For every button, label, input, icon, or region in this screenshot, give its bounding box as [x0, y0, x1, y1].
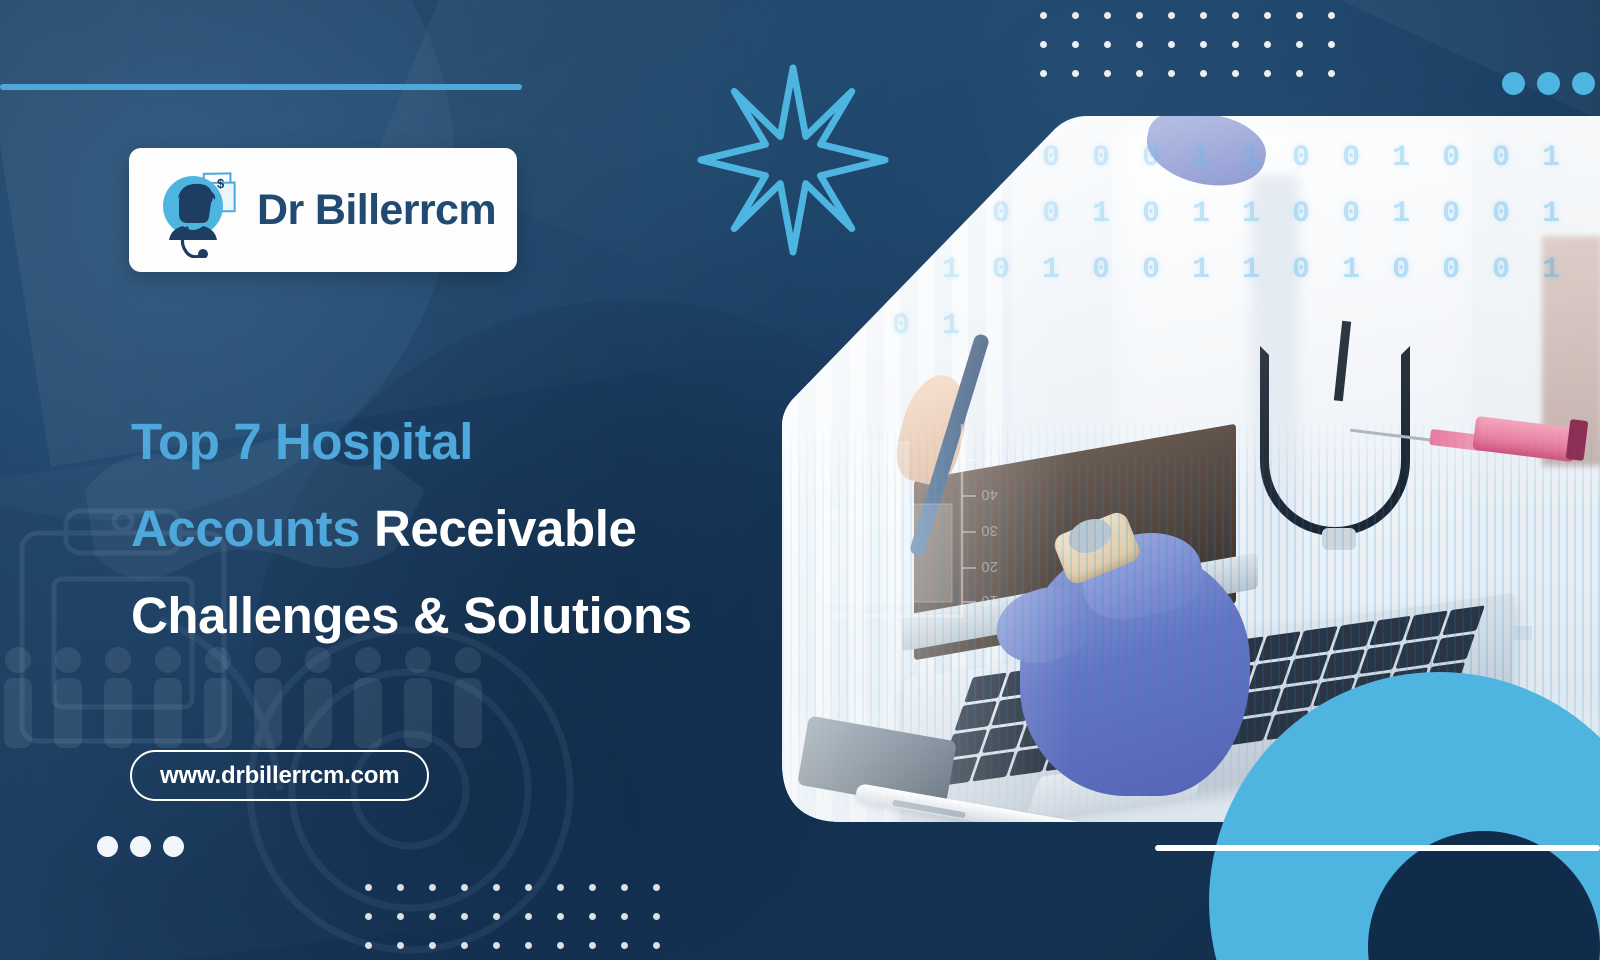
headline-line-1: Top 7 Hospital — [131, 398, 811, 485]
top-accent-rule — [0, 84, 522, 90]
dot-grid-top-right — [1040, 12, 1360, 99]
headline-line-2: Accounts Receivable — [131, 485, 811, 572]
headline-line1-accent: Top 7 Hospital — [131, 413, 473, 470]
dot-grid-bottom — [365, 884, 685, 960]
accent-dot — [1502, 72, 1525, 95]
grid-dot — [1040, 12, 1047, 19]
background-corner-wedge — [1340, 0, 1600, 120]
marketing-banner: $ Dr Billerrcm Top 7 Hospital — [0, 0, 1600, 960]
grid-dot — [365, 884, 372, 891]
quarter-ring-shape — [1209, 672, 1600, 960]
accent-dot — [97, 836, 118, 857]
page-title: Top 7 Hospital Accounts Receivable Chall… — [131, 398, 811, 659]
svg-text:$: $ — [217, 176, 225, 191]
doctor-with-money-icon: $ — [151, 162, 247, 258]
headline-line2-white: Receivable — [374, 500, 637, 557]
dot-triple-bottom-left — [97, 836, 184, 857]
eight-point-star-icon — [695, 62, 891, 258]
dot-triple-top-right — [1502, 72, 1595, 95]
website-url-label: www.drbillerrcm.com — [160, 762, 399, 790]
headline-line-3: Challenges & Solutions — [131, 572, 811, 659]
bottom-white-rule — [1155, 845, 1600, 851]
headline-line2-accent: Accounts — [131, 500, 360, 557]
brand-logo-card[interactable]: $ Dr Billerrcm — [129, 148, 517, 272]
brand-name: Dr Billerrcm — [257, 186, 496, 235]
headline-line3-white: Challenges & Solutions — [131, 587, 692, 644]
website-url-button[interactable]: www.drbillerrcm.com — [130, 750, 429, 801]
